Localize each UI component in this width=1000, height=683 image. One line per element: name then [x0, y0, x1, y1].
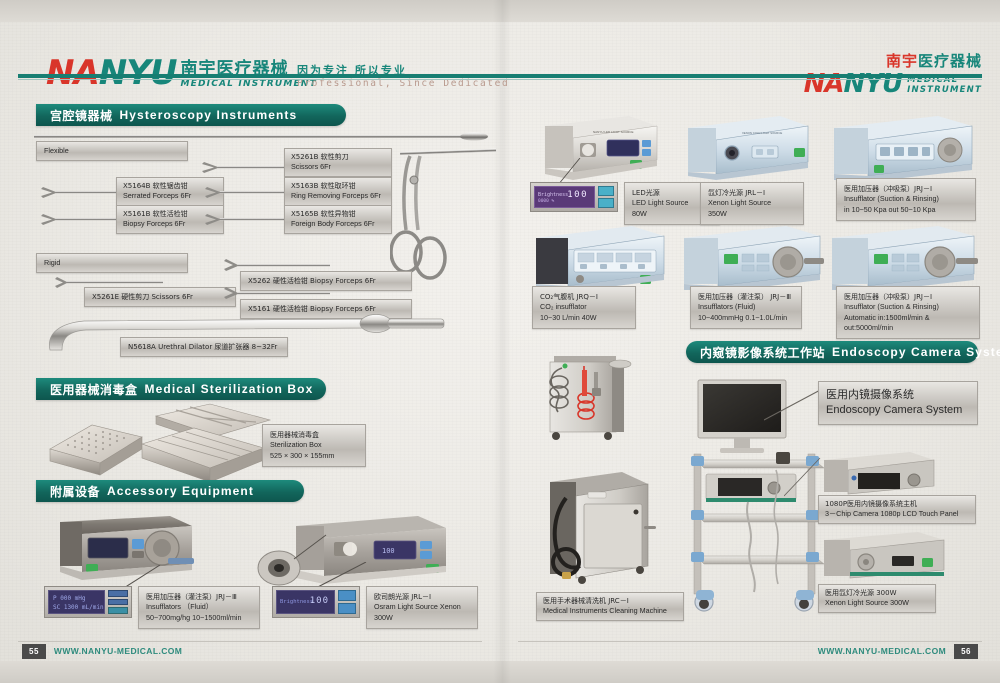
page-edge-top — [0, 0, 1000, 22]
equipment-label-insufflator-fluid: 医用加压器（灌注泵） JRJ－Ⅲ Insufflators (Fluid) 10… — [690, 286, 802, 329]
instrument-label-x5261b: X5261B 软性剪刀 Scissors 6Fr — [284, 148, 392, 177]
insufflator-lcd-screen: P 000 mHg SC 1300 mL/min — [48, 590, 105, 614]
xenon-300w-label-cn: 医用氙灯冷光源 300W — [825, 588, 929, 598]
co2-insufflator-device-image — [528, 222, 668, 290]
accessory-label-insufflator: 医用加压器（灌注泵）JRJ－Ⅲ Insufflators （Fluid） 50~… — [138, 586, 260, 629]
insufflator-suction-automatic-image — [824, 222, 979, 290]
accessory-label-insufflator-cn: 医用加压器（灌注泵）JRJ－Ⅲ — [146, 592, 252, 602]
insufflator-lcd-line1: P 000 mHg — [53, 595, 86, 602]
sterilization-box-label-cn: 医用器械消毒盒 — [270, 430, 358, 440]
instrument-ring-removing-forceps — [204, 184, 289, 200]
camera-host-label-cn: 1080P医用内镜摄像系统主机 — [825, 499, 969, 509]
instrument-label-x5164b-cn: X5164B 软性锯齿钳 — [123, 181, 217, 191]
header-rule — [18, 74, 982, 78]
xenon-300w-label: 医用氙灯冷光源 300W Xenon Light Source 300W — [818, 584, 936, 613]
instrument-label-x5165b-cn: X5165B 软性异物钳 — [291, 209, 385, 219]
group-label-flexible: Flexible — [36, 141, 188, 161]
led-lcd-sub: 0000 % — [538, 199, 554, 204]
instrument-label-n5618a: N5618A Urethral Dilator 尿道扩张器 8~32Fr — [120, 337, 288, 357]
led-lcd-value: 100 — [567, 190, 588, 200]
header-rule-light — [18, 79, 982, 80]
insufflator-fluid-device-image — [676, 222, 826, 290]
instrument-label-x5163b-en: Ring Removing Forceps 6Fr — [291, 191, 385, 201]
group-label-rigid-text: Rigid — [44, 258, 180, 268]
page-edge-bottom — [0, 661, 1000, 683]
xenon-300w-unit-image — [818, 528, 948, 580]
callout-line-lamp — [292, 533, 332, 561]
camera-system-label-cn: 医用内镜摄像系统 — [826, 387, 970, 403]
equipment-label-insufflator-suction-cn: 医用加压器（冲吸泵）JRJ－Ⅰ — [844, 184, 968, 194]
instrument-label-x5161b-en: Biopsy Forceps 6Fr — [123, 219, 217, 229]
page-gutter — [493, 0, 511, 683]
group-label-flexible-text: Flexible — [44, 146, 180, 156]
equipment-label-co2-spec: 10~30 L/min 40W — [540, 313, 628, 323]
equipment-label-insufflator-fluid-cn: 医用加压器（灌注泵） JRJ－Ⅲ — [698, 292, 794, 302]
equipment-label-insufflator-suction-en: Insufflator (Suction & Rinsing) — [844, 194, 968, 204]
cleaning-machine-label-en: Medical Instruments Cleaning Machine — [543, 606, 677, 616]
section-banner-camera-system-en: Endoscopy Camera System — [832, 345, 1000, 359]
xenon-display-panel: Brightness 100 — [272, 586, 360, 618]
page-number-left: 55 — [22, 644, 46, 659]
accessory-label-xenon-en: Osram Light Source Xenon — [374, 602, 470, 612]
instrument-foreign-body-forceps — [204, 211, 289, 227]
camera-system-label-en: Endoscopy Camera System — [826, 403, 970, 419]
xenon-button-group[interactable] — [338, 590, 356, 614]
camera-host-unit-image — [818, 448, 938, 496]
section-banner-accessory: 附属设备 Accessory Equipment — [36, 480, 304, 502]
equipment-label-co2-cn: CO₂气腹机 JRQ－Ⅰ — [540, 292, 628, 302]
section-banner-camera-system: 内窥镜影像系统工作站 Endoscopy Camera System — [686, 341, 978, 363]
xenon-button-down[interactable] — [338, 603, 356, 614]
callout-line-camera-host — [784, 450, 824, 500]
led-display-panel: Brightness 100 0000 % — [530, 182, 618, 212]
equipment-label-insufflator-suction: 医用加压器（冲吸泵）JRJ－Ⅰ Insufflator (Suction & R… — [836, 178, 976, 221]
instrument-scissors-flexible — [200, 159, 290, 175]
website-right[interactable]: WWW.NANYU-MEDICAL.COM — [818, 646, 946, 656]
website-left[interactable]: WWW.NANYU-MEDICAL.COM — [54, 646, 182, 656]
equipment-label-xenon350-cn: 氙灯冷光源 JRL－Ⅰ — [708, 188, 796, 198]
cleaning-machine-label-cn: 医用手术器械清洗机 JRC－Ⅰ — [543, 596, 677, 606]
svg-text:NANYU LED LIGHT SOURCE: NANYU LED LIGHT SOURCE — [593, 130, 633, 134]
page-header: NANYU 南宇医疗器械 MEDICAL INSTRUMENT 因为专注 所以专… — [0, 22, 1000, 80]
equipment-label-insufflator-auto-cn: 医用加压器（冲吸泵）JRJ－Ⅰ — [844, 292, 972, 302]
cleaning-machine-image — [536, 462, 656, 592]
insufflator-lcd-line2: SC 1300 mL/min — [53, 604, 104, 611]
xenon-lcd-screen: Brightness 100 — [276, 590, 335, 614]
footer-left: 55 WWW.NANYU-MEDICAL.COM — [22, 641, 182, 661]
svg-text:100: 100 — [382, 547, 395, 555]
equipment-label-xenon350-en: Xenon Light Source — [708, 198, 796, 208]
equipment-label-insufflator-auto: 医用加压器（冲吸泵）JRJ－Ⅰ Insufflator (Suction & R… — [836, 286, 980, 339]
cleaning-machine-label: 医用手术器械清洗机 JRC－Ⅰ Medical Instruments Clea… — [536, 592, 684, 621]
section-banner-sterilization-en: Medical Sterilization Box — [145, 382, 314, 396]
xenon-button-up[interactable] — [338, 590, 356, 601]
instrument-label-x5161b-cn: X5161B 软性活检钳 — [123, 209, 217, 219]
equipment-label-insufflator-auto-spec: Automatic in:1500ml/min & out:5000ml/min — [844, 313, 972, 334]
insufflator-display-panel: P 000 mHg SC 1300 mL/min — [44, 586, 132, 618]
camera-system-label: 医用内镜摄像系统 Endoscopy Camera System — [818, 381, 978, 425]
section-banner-hysteroscopy-en: Hysteroscopy Instruments — [120, 108, 298, 122]
instrument-serrated-forceps — [40, 184, 125, 200]
section-banner-accessory-cn: 附属设备 — [50, 483, 100, 500]
accessory-label-insufflator-en: Insufflators （Fluid） — [146, 602, 252, 612]
xenon-300w-label-en: Xenon Light Source 300W — [825, 598, 929, 608]
instrument-label-x5165b: X5165B 软性异物钳 Foreign Body Forceps 6Fr — [284, 205, 392, 234]
group-label-rigid: Rigid — [36, 253, 188, 273]
xenon-lcd-value: 100 — [310, 596, 329, 606]
instrument-washer-upper-image — [532, 348, 642, 468]
camera-host-label: 1080P医用内镜摄像系统主机 3－Chip Camera 1080p LCD … — [818, 495, 976, 524]
led-button-group[interactable] — [598, 186, 614, 208]
equipment-label-co2: CO₂气腹机 JRQ－Ⅰ CO₂ insufflator 10~30 L/min… — [532, 286, 636, 329]
equipment-label-insufflator-fluid-spec: 10~400mmHg 0.1~1.0L/min — [698, 313, 794, 323]
brand-subtitle-line2: INSTRUMENT — [907, 85, 982, 95]
svg-text:XENON COLD LIGHT SOURCE: XENON COLD LIGHT SOURCE — [742, 131, 782, 135]
instrument-label-n5618a-text: N5618A Urethral Dilator 尿道扩张器 8~32Fr — [128, 342, 280, 352]
section-banner-sterilization: 医用器械消毒盒 Medical Sterilization Box — [36, 378, 326, 400]
led-lcd-screen: Brightness 100 0000 % — [534, 186, 595, 208]
accessory-label-xenon-cn: 欧司朗光源 JRL－Ⅰ — [374, 592, 470, 602]
instrument-label-x5165b-en: Foreign Body Forceps 6Fr — [291, 219, 385, 229]
accessory-label-xenon: 欧司朗光源 JRL－Ⅰ Osram Light Source Xenon 300… — [366, 586, 478, 629]
section-banner-accessory-en: Accessory Equipment — [107, 484, 254, 498]
equipment-label-insufflator-suction-spec: in 10~50 Kpa out 50~10 Kpa — [844, 205, 968, 215]
instrument-label-x5261b-en: Scissors 6Fr — [291, 162, 385, 172]
equipment-label-xenon350-spec: 350W — [708, 209, 796, 219]
led-lcd-label: Brightness — [538, 192, 568, 198]
page-number-right: 56 — [954, 644, 978, 659]
brand-name-cn-right: 南宇医疗器械 — [804, 50, 982, 71]
sterilization-box-label-en: Sterilization Box — [270, 440, 358, 450]
xenon-lcd-label: Brightness — [280, 599, 313, 605]
section-banner-hysteroscopy-cn: 宫腔镜器械 — [50, 107, 113, 124]
camera-host-label-en: 3－Chip Camera 1080p LCD Touch Panel — [825, 509, 969, 519]
instrument-label-x5163b: X5163B 软性取环钳 Ring Removing Forceps 6Fr — [284, 177, 392, 206]
section-banner-sterilization-cn: 医用器械消毒盒 — [50, 381, 138, 398]
section-banner-camera-system-cn: 内窥镜影像系统工作站 — [700, 344, 825, 361]
section-banner-hysteroscopy: 宫腔镜器械 Hysteroscopy Instruments — [36, 104, 346, 126]
accessory-label-insufflator-spec: 50~700mg/hg 10~1500ml/min — [146, 613, 252, 623]
brand-wordmark: NANYU — [46, 56, 176, 90]
led-button-up[interactable] — [598, 186, 614, 196]
insufflator-suction-rinsing-image — [826, 110, 976, 180]
insufflator-button-1[interactable] — [108, 590, 128, 597]
insufflator-button-group[interactable] — [108, 590, 128, 614]
insufflator-button-2[interactable] — [108, 599, 128, 606]
accessory-label-xenon-spec: 300W — [374, 613, 470, 623]
footer-right: WWW.NANYU-MEDICAL.COM 56 — [818, 641, 978, 661]
sterilization-box-label-spec: 525 × 300 × 155mm — [270, 451, 358, 461]
insufflator-button-3[interactable] — [108, 607, 128, 614]
instrument-label-x5163b-cn: X5163B 软性取环钳 — [291, 181, 385, 191]
instrument-label-x5261b-cn: X5261B 软性剪刀 — [291, 152, 385, 162]
equipment-label-insufflator-auto-en: Insufflator (Suction & Rinsing) — [844, 302, 972, 312]
instrument-label-x5164b-en: Serrated Forceps 6Fr — [123, 191, 217, 201]
catalog-page: NANYU 南宇医疗器械 MEDICAL INSTRUMENT 因为专注 所以专… — [0, 0, 1000, 683]
led-button-down[interactable] — [598, 198, 614, 208]
equipment-label-xenon350: 氙灯冷光源 JRL－Ⅰ Xenon Light Source 350W — [700, 182, 804, 225]
equipment-label-co2-en: CO₂ insufflator — [540, 302, 628, 312]
instrument-biopsy-forceps-flexible — [40, 211, 125, 227]
sterilization-box-label: 医用器械消毒盒 Sterilization Box 525 × 300 × 15… — [262, 424, 366, 467]
instrument-label-x5261e-text: X5261E 硬性剪刀 Scissors 6Fr — [92, 292, 228, 302]
xenon-light-source-350w-image: XENON COLD LIGHT SOURCE — [680, 110, 810, 180]
equipment-label-insufflator-fluid-en: Insufflators (Fluid) — [698, 302, 794, 312]
instrument-label-x5261e: X5261E 硬性剪刀 Scissors 6Fr — [84, 287, 236, 307]
